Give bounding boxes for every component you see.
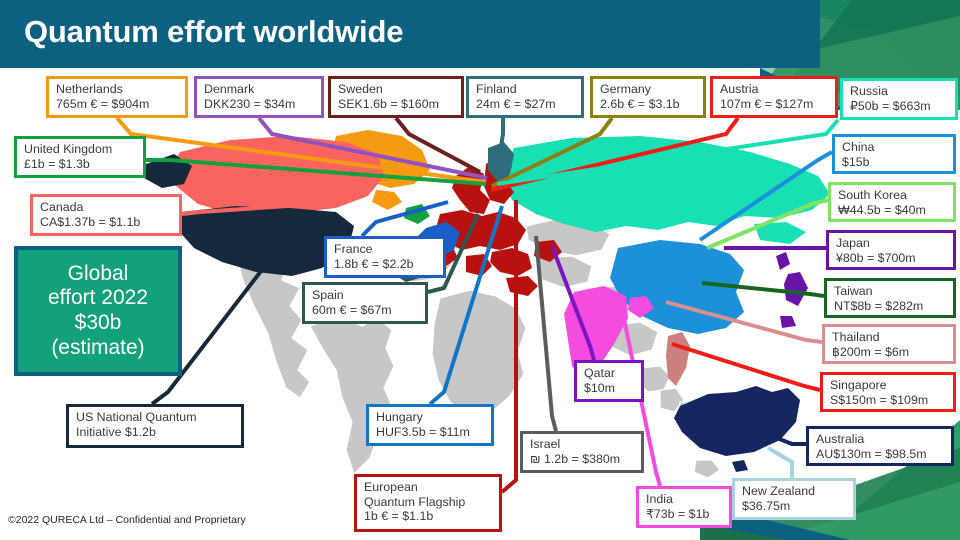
label-russia[interactable]: Russia₽50b = $663m — [840, 78, 958, 120]
label-new-zealand-name: New Zealand — [742, 484, 847, 499]
label-india[interactable]: India₹73b = $1b — [636, 486, 732, 528]
label-sweden-name: Sweden — [338, 82, 455, 97]
label-france[interactable]: France1.8b € = $2.2b — [324, 236, 446, 278]
label-india-value: ₹73b = $1b — [646, 507, 723, 522]
label-hungary-value: HUF3.5b = $11m — [376, 425, 485, 440]
label-us-national-quantum-initiative-value: Initiative $1.2b — [76, 425, 235, 440]
label-finland-value: 24m € = $27m — [476, 97, 575, 112]
label-south-korea-value: ₩44.5b = $40m — [838, 203, 947, 218]
label-south-korea-name: South Korea — [838, 188, 947, 203]
label-china-name: China — [842, 140, 947, 155]
label-france-value: 1.8b € = $2.2b — [334, 257, 437, 272]
label-australia-name: Australia — [816, 432, 945, 447]
label-canada[interactable]: CanadaCA$1.37b = $1.1b — [30, 194, 182, 236]
connector-european-quantum-flagship — [502, 200, 516, 492]
label-china-value: $15b — [842, 155, 947, 170]
label-taiwan-value: NT$8b = $282m — [834, 299, 947, 314]
label-hungary[interactable]: HungaryHUF3.5b = $11m — [366, 404, 494, 446]
label-finland-name: Finland — [476, 82, 575, 97]
label-new-zealand[interactable]: New Zealand$36.75m — [732, 478, 856, 520]
label-singapore-name: Singapore — [830, 378, 947, 393]
label-israel-value: ₪ 1.2b = $380m — [530, 452, 635, 467]
label-germany[interactable]: Germany2.6b € = $3.1b — [590, 76, 706, 118]
connector-china — [700, 152, 832, 240]
label-denmark-value: DKK230 = $34m — [204, 97, 315, 112]
label-qatar-name: Qatar — [584, 366, 635, 381]
global-line-3: $30b — [75, 311, 122, 336]
label-united-kingdom-name: United Kingdom — [24, 142, 137, 157]
slide-canvas: Quantum effort worldwide — [0, 0, 960, 540]
label-russia-name: Russia — [850, 84, 949, 99]
connector-israel — [536, 236, 556, 431]
label-germany-value: 2.6b € = $3.1b — [600, 97, 697, 112]
connector-finland — [496, 118, 503, 178]
global-line-2: effort 2022 — [48, 286, 148, 311]
global-line-4: (estimate) — [51, 336, 144, 361]
label-australia[interactable]: AustraliaAU$130m = $98.5m — [806, 426, 954, 466]
label-spain[interactable]: Spain60m € = $67m — [302, 282, 428, 324]
label-united-kingdom-value: £1b = $1.3b — [24, 157, 137, 172]
connector-taiwan — [702, 283, 824, 296]
label-south-korea[interactable]: South Korea₩44.5b = $40m — [828, 182, 956, 222]
connector-australia — [716, 414, 806, 444]
label-china[interactable]: China$15b — [832, 134, 956, 174]
label-japan[interactable]: Japan¥80b = $700m — [826, 230, 956, 270]
label-us-national-quantum-initiative-name: US National Quantum — [76, 410, 235, 425]
label-hungary-name: Hungary — [376, 410, 485, 425]
connector-qatar — [552, 246, 594, 360]
connector-united-kingdom — [146, 160, 486, 184]
connector-singapore — [672, 344, 820, 390]
label-canada-name: Canada — [40, 200, 173, 215]
label-qatar-value: $10m — [584, 381, 635, 396]
connector-france — [362, 202, 448, 236]
label-spain-value: 60m € = $67m — [312, 303, 419, 318]
label-new-zealand-value: $36.75m — [742, 499, 847, 514]
label-united-kingdom[interactable]: United Kingdom£1b = $1.3b — [14, 136, 146, 178]
label-spain-name: Spain — [312, 288, 419, 303]
label-france-name: France — [334, 242, 437, 257]
label-netherlands-name: Netherlands — [56, 82, 179, 97]
label-denmark-name: Denmark — [204, 82, 315, 97]
label-european-quantum-flagship[interactable]: EuropeanQuantum Flagship1b € = $1.1b — [354, 474, 502, 532]
global-effort-callout: Global effort 2022 $30b (estimate) — [14, 246, 182, 376]
label-thailand-value: ฿200m = $6m — [832, 345, 947, 360]
global-line-1: Global — [68, 262, 129, 287]
label-israel-name: Israel — [530, 437, 635, 452]
label-thailand-name: Thailand — [832, 330, 947, 345]
connector-russia — [497, 120, 838, 184]
label-austria[interactable]: Austria107m € = $127m — [710, 76, 838, 118]
label-netherlands[interactable]: Netherlands765m € = $904m — [46, 76, 188, 118]
label-us-national-quantum-initiative[interactable]: US National QuantumInitiative $1.2b — [66, 404, 244, 448]
label-taiwan-name: Taiwan — [834, 284, 947, 299]
label-germany-name: Germany — [600, 82, 697, 97]
label-austria-value: 107m € = $127m — [720, 97, 829, 112]
label-austria-name: Austria — [720, 82, 829, 97]
label-sweden-value: SEK1.6b = $160m — [338, 97, 455, 112]
label-canada-value: CA$1.37b = $1.1b — [40, 215, 173, 230]
label-singapore[interactable]: SingaporeS$150m = $109m — [820, 372, 956, 412]
label-denmark[interactable]: DenmarkDKK230 = $34m — [194, 76, 324, 118]
copyright-footer: ©2022 QURECA Ltd – Confidential and Prop… — [8, 514, 246, 526]
label-japan-name: Japan — [836, 236, 947, 251]
label-australia-value: AU$130m = $98.5m — [816, 447, 945, 462]
connector-new-zealand — [768, 448, 792, 478]
connector-netherlands — [117, 118, 486, 182]
label-finland[interactable]: Finland24m € = $27m — [466, 76, 584, 118]
connector-canada — [182, 205, 302, 214]
label-european-quantum-flagship-name: European — [364, 480, 493, 495]
label-russia-value: ₽50b = $663m — [850, 99, 949, 114]
label-qatar[interactable]: Qatar$10m — [574, 360, 644, 402]
label-japan-value: ¥80b = $700m — [836, 251, 947, 266]
label-singapore-value: S$150m = $109m — [830, 393, 947, 408]
label-india-name: India — [646, 492, 723, 507]
label-european-quantum-flagship-value2: 1b € = $1.1b — [364, 509, 493, 524]
label-sweden[interactable]: SwedenSEK1.6b = $160m — [328, 76, 464, 118]
label-thailand[interactable]: Thailand฿200m = $6m — [822, 324, 956, 364]
label-european-quantum-flagship-value: Quantum Flagship — [364, 495, 493, 510]
label-netherlands-value: 765m € = $904m — [56, 97, 179, 112]
label-taiwan[interactable]: TaiwanNT$8b = $282m — [824, 278, 956, 318]
connector-thailand — [666, 302, 822, 342]
label-israel[interactable]: Israel₪ 1.2b = $380m — [520, 431, 644, 473]
